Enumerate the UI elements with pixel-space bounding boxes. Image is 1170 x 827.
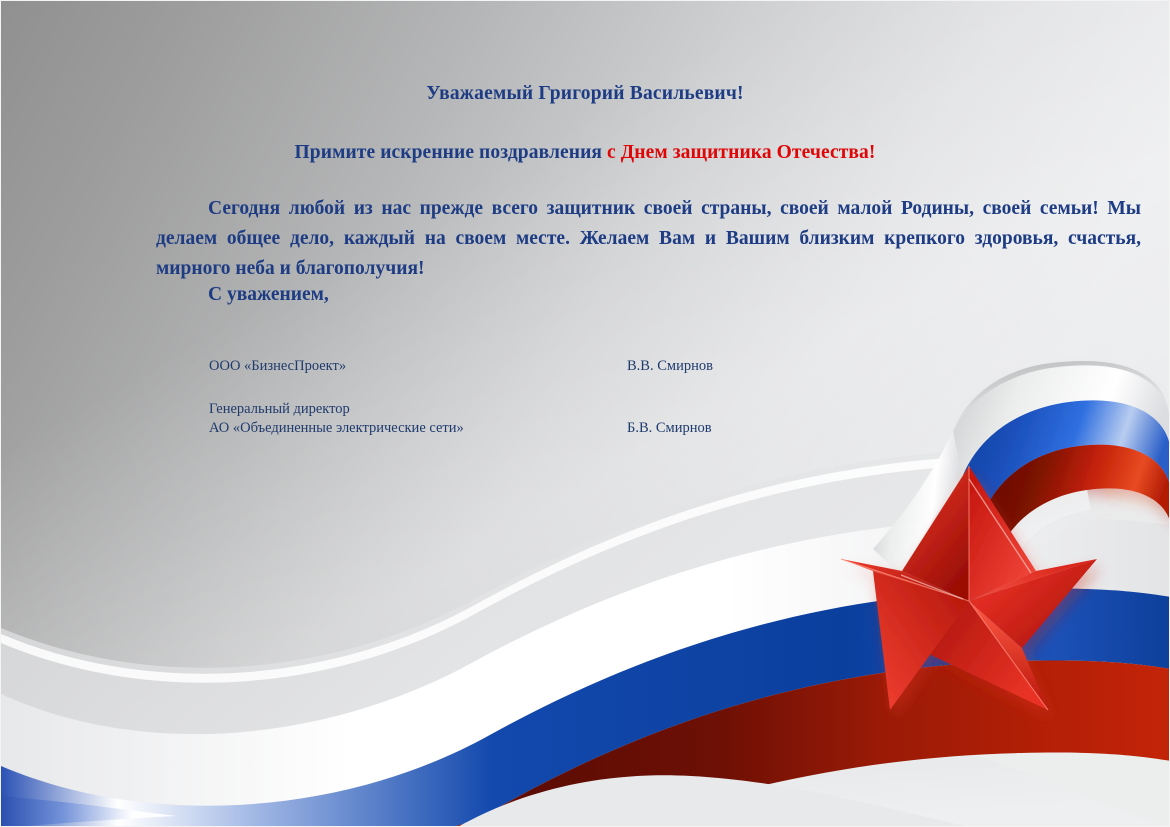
congratulation-highlight: с Днем защитника Отечества! <box>607 142 875 163</box>
signature-spacer <box>209 376 809 400</box>
body-paragraph: Сегодня любой из нас прежде всего защитн… <box>156 194 1141 284</box>
signature-block: ООО «БизнесПроект» В.В. Смирнов Генераль… <box>209 357 809 438</box>
signature-organization: АО «Объединенные электрические сети» <box>209 419 464 438</box>
congratulation-line: Примите искренние поздравления с Днем за… <box>1 142 1169 164</box>
signature-position: Генеральный директор <box>209 400 350 419</box>
body-paragraph-block: Сегодня любой из нас прежде всего защитн… <box>156 194 1141 284</box>
congratulation-lead: Примите искренние поздравления <box>295 142 608 163</box>
regards-line: С уважением, <box>156 284 329 306</box>
signature-name: В.В. Смирнов <box>627 357 713 376</box>
signature-row: АО «Объединенные электрические сети» Б.В… <box>209 419 809 438</box>
signature-row: Генеральный директор <box>209 400 809 419</box>
signature-organization: ООО «БизнесПроект» <box>209 357 346 376</box>
signature-row: ООО «БизнесПроект» В.В. Смирнов <box>209 357 809 376</box>
greeting-line: Уважаемый Григорий Васильевич! <box>1 83 1169 105</box>
greeting-card: Уважаемый Григорий Васильевич! Примите и… <box>0 0 1170 827</box>
card-text: Уважаемый Григорий Васильевич! Примите и… <box>1 1 1169 826</box>
signature-name: Б.В. Смирнов <box>627 419 712 438</box>
